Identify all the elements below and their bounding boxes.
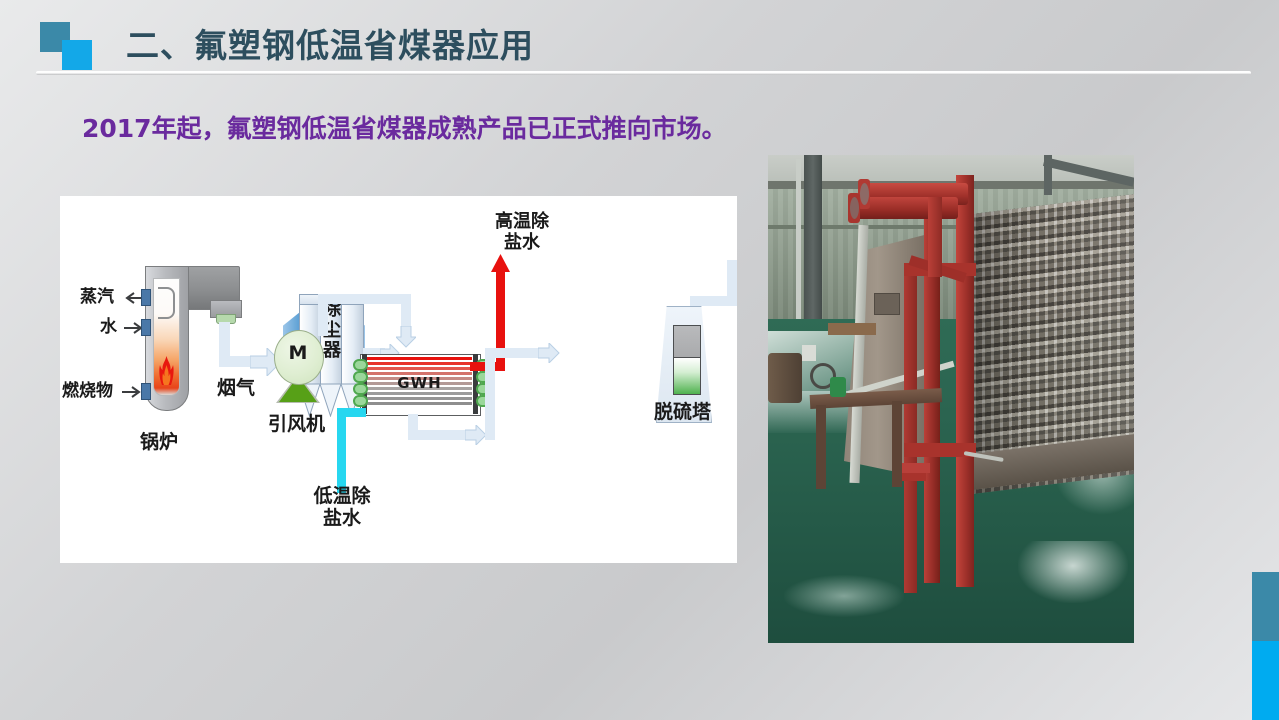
tower-inlet-arrow-icon (538, 343, 560, 363)
boiler-water-port-icon (141, 319, 151, 336)
photo-red-downpipe (928, 197, 942, 277)
page-title: 二、氟塑钢低温省煤器应用 (126, 19, 534, 67)
boiler-furnace-chamber (153, 278, 180, 396)
photo-white-bucket (802, 345, 816, 361)
high-temp-water-line2: 盐水 (504, 232, 540, 253)
boiler-tube-coil-icon (158, 287, 175, 319)
accent-bar-blue (1252, 641, 1279, 720)
label-water: 水 (100, 318, 117, 338)
tower-inlet-arrow-lower-icon (465, 425, 487, 445)
gwh-tube-row (367, 367, 472, 370)
gwh-ubend-left (353, 359, 368, 371)
process-diagram-panel: 蒸汽 水 燃烧物 锅炉 (60, 196, 737, 563)
duct-tower-riser (485, 348, 495, 440)
photo-floor-reflection-d (784, 575, 904, 617)
flame-icon (158, 355, 175, 387)
photo-red-post-third (904, 263, 917, 593)
gwh-tube-row (367, 402, 472, 405)
gwh-ubend-left (353, 395, 368, 407)
subtitle-text: 2017年起，氟塑钢低温省煤器成熟产品已正式推向市场。 (82, 109, 727, 145)
high-temp-water-line1: 高温除 (495, 211, 549, 232)
decor-square-light-icon (62, 40, 92, 70)
photo-tank (768, 353, 802, 403)
photo-pallet (828, 323, 876, 335)
gwh-tube-row (367, 397, 472, 400)
photo-red-flange-face-1-icon (860, 183, 869, 205)
gwh-ubend-left (353, 383, 368, 395)
label-high-temp-demin-water: 高温除 盐水 (474, 212, 570, 253)
duct-tower-top-inlet-riser (727, 260, 737, 306)
label-desulfurization-tower: 脱硫塔 (654, 402, 711, 424)
photo-floor-reflection-c (1018, 541, 1128, 603)
hot-water-arrow-icon (491, 254, 510, 274)
gwh-tube-row (367, 357, 472, 360)
accent-bar-teal (1252, 572, 1279, 641)
duct-fan-to-gwh-h (318, 294, 411, 304)
label-steam: 蒸汽 (80, 288, 114, 308)
photo-bench-leg-left (816, 405, 826, 489)
title-divider (36, 71, 1251, 75)
photo-red-post-main (956, 175, 974, 587)
label-low-temp-demin-water: 低温除 盐水 (292, 486, 392, 530)
cold-water-pipe-vertical (337, 408, 346, 493)
label-boiler: 锅炉 (140, 432, 178, 454)
site-photo (768, 155, 1134, 643)
low-temp-water-line1: 低温除 (313, 485, 370, 507)
boiler-fuel-port-icon (141, 383, 151, 400)
slide-root: 二、氟塑钢低温省煤器应用 2017年起，氟塑钢低温省煤器成熟产品已正式推向市场。… (0, 0, 1279, 720)
boiler-steam-port-icon (141, 289, 151, 306)
gwh-tube-row (367, 392, 472, 395)
cold-water-pipe-horizontal (337, 408, 366, 417)
fan-motor-label: M (274, 342, 322, 364)
dust-collector-char-3: 器 (323, 340, 341, 361)
photo-bench-leg-right (892, 401, 902, 487)
tower-upper-section (673, 325, 701, 359)
gwh-inlet-arrow-icon (396, 326, 416, 348)
photo-green-drum (830, 377, 846, 397)
label-fuel: 燃烧物 (62, 382, 113, 402)
tower-lower-section (673, 357, 701, 395)
duct-fan-riser (318, 294, 328, 336)
photo-red-flange-face-2-icon (850, 197, 859, 219)
label-flue-gas: 烟气 (217, 378, 255, 400)
gwh-tube-row (367, 362, 472, 365)
photo-casing-plate (874, 293, 900, 315)
label-induced-draft-fan: 引风机 (268, 414, 325, 436)
gwh-label: GWH (360, 374, 479, 392)
gwh-ubend-left (353, 371, 368, 383)
duct-gwh-downcomer (401, 294, 411, 330)
low-temp-water-line2: 盐水 (323, 507, 361, 529)
